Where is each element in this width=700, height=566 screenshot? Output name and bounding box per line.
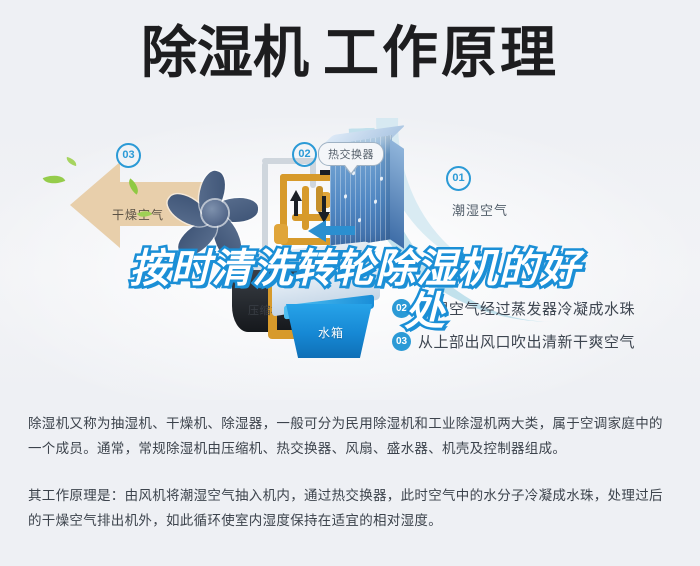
legend-text: 从上部出风口吹出清新干爽空气 (418, 331, 635, 352)
evaporator-side-icon (390, 139, 404, 248)
paragraph-1: 除湿机又称为抽湿机、干燥机、除湿器，一般可分为民用除湿机和工业除湿机两大类，属于… (28, 412, 676, 462)
water-tank-label: 水箱 (318, 324, 344, 341)
marker-01: 01 (446, 166, 471, 191)
marker-03: 03 (116, 143, 141, 168)
list-item: 03 从上部出风口吹出清新干爽空气 (392, 331, 692, 352)
list-item: 02 潮湿空气经过蒸发器冷凝成水珠 (392, 298, 692, 319)
page-title: 除湿机工作原理 (0, 22, 700, 84)
wet-air-inlet-arrow-icon (308, 220, 326, 242)
wet-air-label: 潮湿空气 (452, 200, 508, 219)
heat-exchanger-callout: 热交换器 (318, 142, 384, 166)
legend-badge: 02 (392, 299, 411, 318)
paragraph-2: 其工作原理是：由风机将潮湿空气抽入机内，通过热交换器，此时空气中的水分子冷凝成水… (28, 484, 676, 534)
marker-02: 02 (292, 142, 317, 167)
legend-list: 02 潮湿空气经过蒸发器冷凝成水珠 03 从上部出风口吹出清新干爽空气 (392, 298, 692, 364)
title-part-2: 工作原理 (323, 21, 559, 84)
legend-text: 潮湿空气经过蒸发器冷凝成水珠 (418, 298, 635, 319)
infographic-page: 除湿机工作原理 干燥空气 (0, 0, 700, 566)
title-part-1: 除湿机 (141, 21, 309, 84)
legend-badge: 03 (392, 332, 411, 351)
body-copy: 除湿机又称为抽湿机、干燥机、除湿器，一般可分为民用除湿机和工业除湿机两大类，属于… (28, 412, 676, 543)
